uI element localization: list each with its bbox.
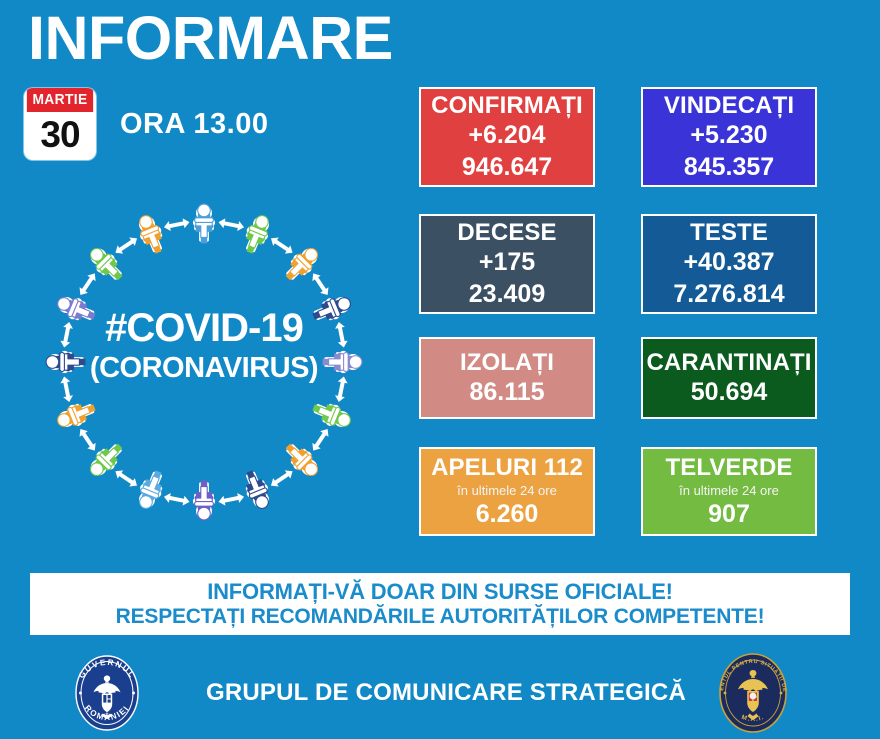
stat-card-confirmati[interactable]: CONFIRMAȚI +6.204 946.647 [419,87,595,187]
stat-label: TESTE [690,218,768,247]
covid-hashtag-text: #COVID-19 [34,308,374,348]
stat-label: DECESE [457,218,556,247]
stat-total: 23.409 [469,279,545,310]
stat-card-izolati[interactable]: IZOLAȚI 86.115 [419,337,595,419]
stat-label: CONFIRMAȚI [431,91,583,120]
stat-total: 845.357 [684,152,774,183]
stat-total: 86.115 [469,377,544,408]
stat-delta: +175 [479,247,535,278]
calendar-day-label: 30 [24,112,96,160]
page-title: INFORMARE [28,6,393,70]
stat-card-teste[interactable]: TESTE +40.387 7.276.814 [641,214,817,314]
calendar-icon: MARTIE 30 [24,88,96,160]
stat-total: 50.694 [691,377,767,408]
stat-card-apeluri-112[interactable]: APELURI 112 în ultimele 24 ore 6.260 [419,447,595,536]
calendar-month-label: MARTIE [27,88,93,112]
stat-card-decese[interactable]: DECESE +175 23.409 [419,214,595,314]
stat-total: 7.276.814 [673,279,784,310]
footer: GUVERNUL ROMÂNIEI [0,648,880,739]
stat-delta: +5.230 [690,120,767,151]
notice-line-primary: INFORMAȚI-VĂ DOAR DIN SURSE OFICIALE! [207,579,673,605]
stat-delta: +40.387 [683,247,774,278]
date-row: MARTIE 30 ORA 13.00 [24,88,269,160]
stat-total: 907 [708,499,750,530]
departamentul-situatii-urgenta-seal-icon: DEPARTAMENTUL PENTRU SITUAȚII DE URGENȚĂ… [712,650,794,736]
stat-total: 946.647 [462,152,552,183]
stat-label: APELURI 112 [431,453,583,482]
notice-banner: INFORMAȚI-VĂ DOAR DIN SURSE OFICIALE! RE… [30,573,850,635]
stat-label: CARANTINAȚI [646,348,811,377]
notice-line-secondary: RESPECTAȚI RECOMANDĂRILE AUTORITĂȚILOR C… [116,605,765,630]
covid-circle-graphic: #COVID-19 (CORONAVIRUS) [34,192,374,532]
guvernul-romaniei-seal-icon: GUVERNUL ROMÂNIEI [68,652,146,734]
hour-label: ORA 13.00 [120,108,269,141]
stat-card-telverde[interactable]: TELVERDE în ultimele 24 ore 907 [641,447,817,536]
stat-card-vindecati[interactable]: VINDECAȚI +5.230 845.357 [641,87,817,187]
stat-card-carantinati[interactable]: CARANTINAȚI 50.694 [641,337,817,419]
stat-total: 6.260 [476,499,539,530]
covid-information-poster: INFORMARE MARTIE 30 ORA 13.00 #COVID-1 [0,0,880,739]
stat-subtitle: în ultimele 24 ore [457,483,557,499]
stat-subtitle: în ultimele 24 ore [679,483,779,499]
stat-label: TELVERDE [665,453,792,482]
footer-title: GRUPUL DE COMUNICARE STRATEGICĂ [186,679,706,707]
stat-delta: +6.204 [468,120,545,151]
stat-label: IZOLAȚI [460,348,554,377]
covid-subtitle-text: (CORONAVIRUS) [34,352,374,385]
stat-label: VINDECAȚI [664,91,794,120]
